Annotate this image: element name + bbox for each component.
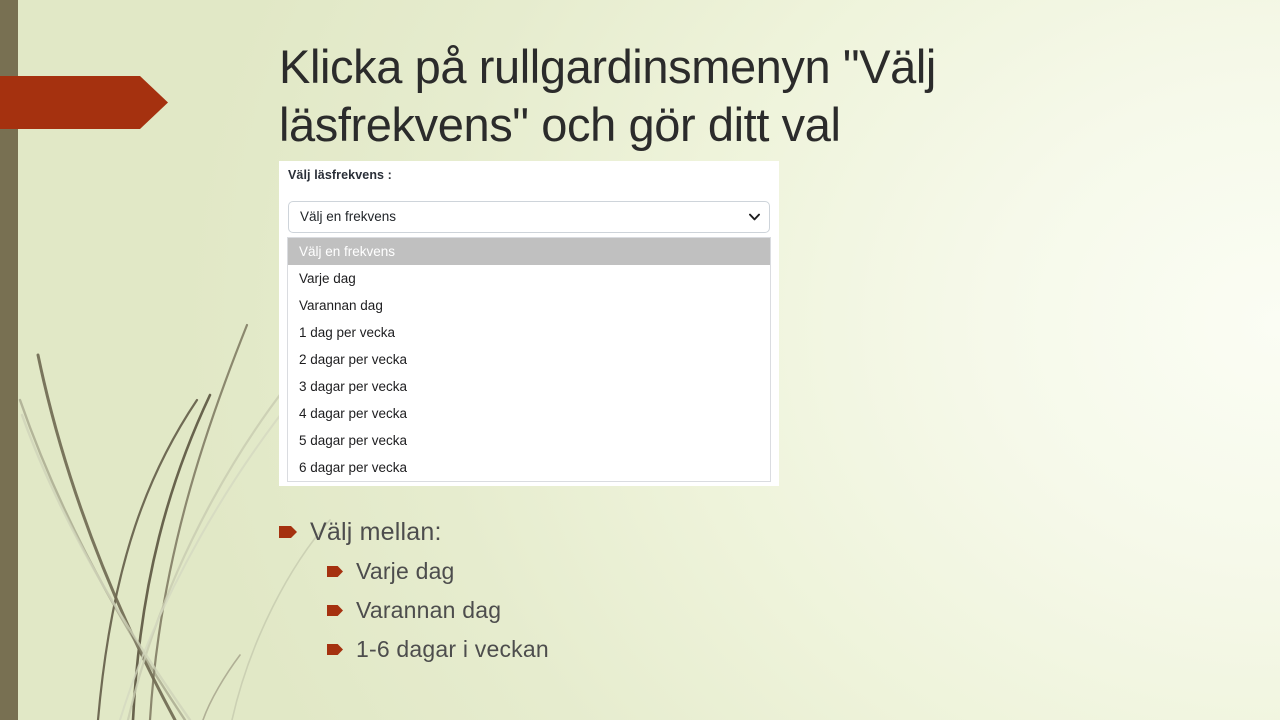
frequency-option[interactable]: 4 dagar per vecka <box>288 400 770 427</box>
bullet-text: Varje dag <box>356 558 455 585</box>
frequency-option[interactable]: 1 dag per vecka <box>288 319 770 346</box>
pennant-bullet-icon <box>327 605 343 616</box>
frequency-option[interactable]: Välj en frekvens <box>288 238 770 265</box>
bullet-text: 1-6 dagar i veckan <box>356 636 549 663</box>
frequency-option[interactable]: 2 dagar per vecka <box>288 346 770 373</box>
frequency-field-label: Välj läsfrekvens : <box>288 168 392 182</box>
bullet-item: Varje dag <box>279 552 1079 591</box>
frequency-option[interactable]: 5 dagar per vecka <box>288 427 770 454</box>
pennant-bullet-icon <box>279 526 297 538</box>
bullet-item: 1-6 dagar i veckan <box>279 630 1079 669</box>
frequency-option[interactable]: 3 dagar per vecka <box>288 373 770 400</box>
frequency-option[interactable]: Varje dag <box>288 265 770 292</box>
pennant-bullet-icon <box>327 566 343 577</box>
frequency-select-value: Välj en frekvens <box>300 209 396 224</box>
bullet-text: Varannan dag <box>356 597 501 624</box>
slide-canvas: Klicka på rullgardinsmenyn "Välj läsfrek… <box>0 0 1280 720</box>
bullet-item: Välj mellan: <box>279 512 1079 552</box>
bullet-list: Välj mellan:Varje dagVarannan dag1-6 dag… <box>279 512 1079 669</box>
slide-title: Klicka på rullgardinsmenyn "Välj läsfrek… <box>279 38 1239 154</box>
frequency-option[interactable]: 6 dagar per vecka <box>288 454 770 481</box>
bullet-item: Varannan dag <box>279 591 1079 630</box>
bullet-text: Välj mellan: <box>310 518 442 547</box>
pennant-bullet-icon <box>327 644 343 655</box>
frequency-select[interactable]: Välj en frekvens <box>288 201 770 233</box>
red-arrow-banner <box>0 76 168 129</box>
frequency-option-list[interactable]: Välj en frekvensVarje dagVarannan dag1 d… <box>287 237 771 482</box>
frequency-option[interactable]: Varannan dag <box>288 292 770 319</box>
chevron-down-icon[interactable] <box>749 213 760 221</box>
frequency-form-panel: Välj läsfrekvens : Välj en frekvens Välj… <box>279 161 779 486</box>
